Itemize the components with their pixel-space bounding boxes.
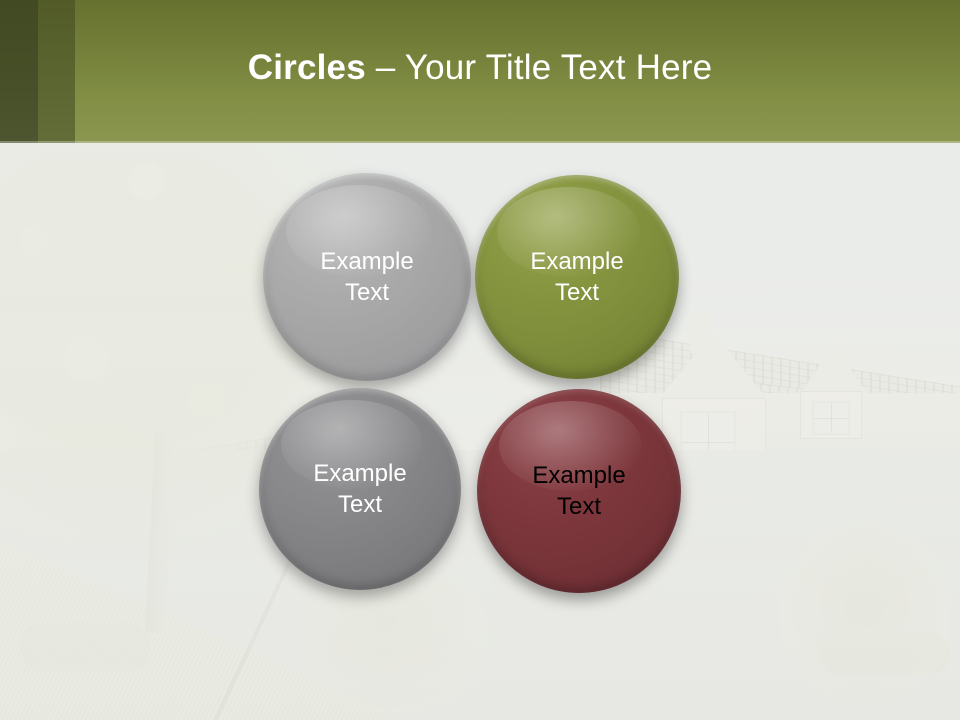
page-title: Circles – Your Title Text Here: [0, 46, 960, 90]
background-photo: [0, 143, 960, 720]
circle-top-left[interactable]: ExampleText: [263, 173, 471, 381]
circle-label-line1: Example: [530, 248, 623, 275]
page-title-separator: –: [366, 48, 405, 87]
circle-label-line2: Text: [555, 279, 599, 306]
photo-fade-overlay: [0, 143, 960, 720]
circle-top-left-label: ExampleText: [302, 246, 431, 308]
circle-bottom-right[interactable]: ExampleText: [477, 389, 681, 593]
page-title-bold: Circles: [248, 48, 366, 87]
circle-label-line2: Text: [557, 493, 601, 520]
circle-label-line1: Example: [320, 248, 413, 275]
circle-label-line1: Example: [532, 462, 625, 489]
circle-label-line2: Text: [338, 491, 382, 518]
circle-label-line2: Text: [345, 279, 389, 306]
circle-top-right-label: ExampleText: [512, 246, 641, 308]
circle-top-right[interactable]: ExampleText: [475, 175, 679, 379]
circle-bottom-left-label: ExampleText: [295, 458, 424, 520]
circle-bottom-left[interactable]: ExampleText: [259, 388, 461, 590]
circle-bottom-right-label: ExampleText: [514, 460, 643, 522]
presentation-slide: Circles – Your Title Text Here ExampleTe…: [0, 0, 960, 720]
circle-label-line1: Example: [313, 460, 406, 487]
page-title-regular: Your Title Text Here: [405, 48, 713, 87]
header-bottom-hairline: [0, 141, 960, 143]
